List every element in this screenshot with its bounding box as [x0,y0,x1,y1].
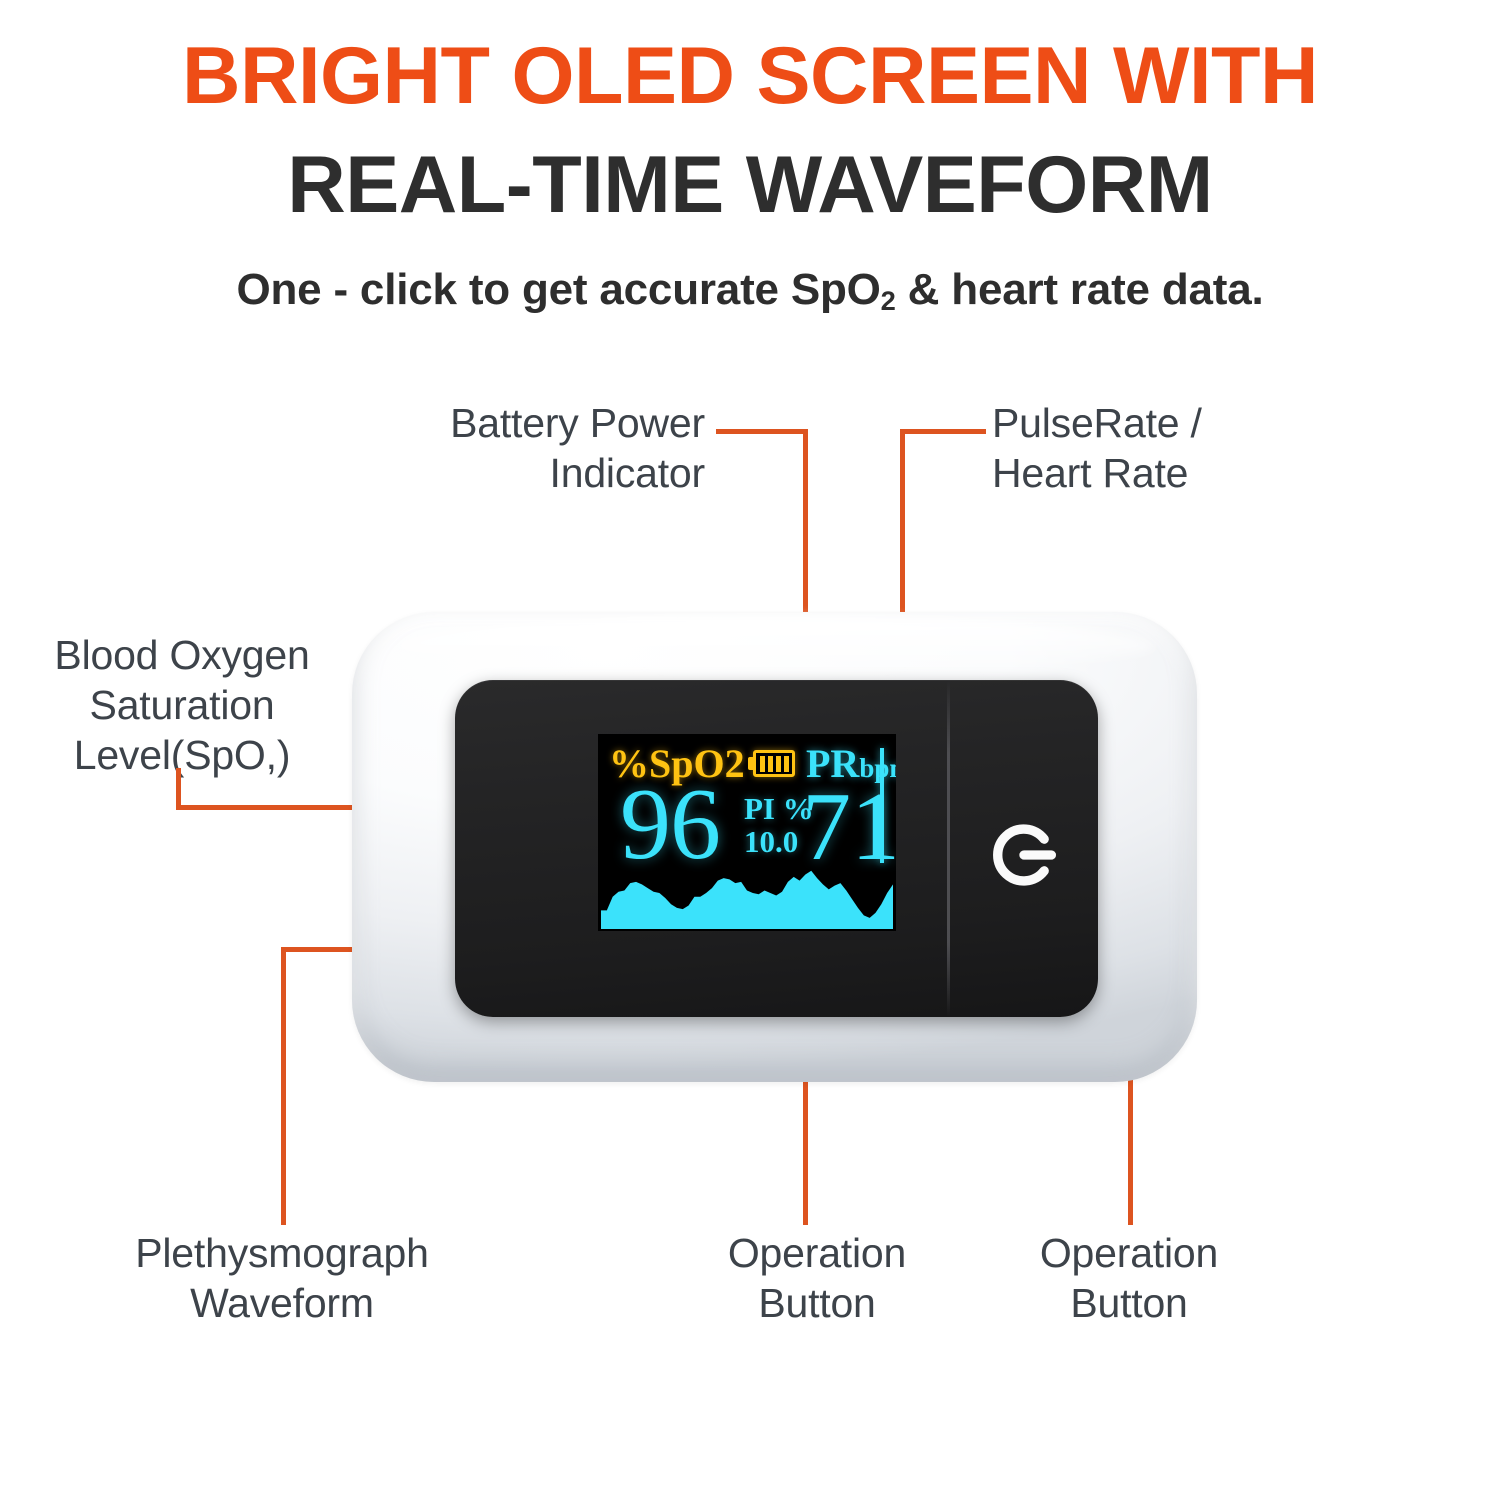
battery-bar [768,756,773,772]
subtitle-post: & heart rate data. [896,265,1264,314]
leader-battery-h [716,429,808,434]
subtitle-pre: One - click to get accurate SpO [236,265,880,314]
battery-icon [748,750,796,777]
device-faceplate: %SpO2 PRbpm 96 PI % 10.0 71 [455,680,1098,1017]
headline-block: BRIGHT OLED SCREEN WITH REAL-TIME WAVEFO… [0,34,1500,317]
callout-plethysmograph: Plethysmograph Waveform [72,1228,492,1328]
faceplate-seam [947,680,950,1017]
subtitle-subscript: 2 [881,285,896,316]
plethysmograph-waveform [601,867,893,929]
callout-operation-button-right: Operation Button [984,1228,1274,1328]
battery-bar [776,756,781,772]
callout-blood-oxygen: Blood Oxygen Saturation Level(SpO,) [22,630,342,780]
callout-battery-power-indicator: Battery Power Indicator [330,398,705,498]
oled-screen: %SpO2 PRbpm 96 PI % 10.0 71 [598,734,896,931]
page-subtitle: One - click to get accurate SpO2 & heart… [0,265,1500,317]
leader-pulserate-h [900,429,986,434]
callout-operation-button-left: Operation Button [672,1228,962,1328]
leader-spo2-v [176,768,181,810]
spo2-value: 96 [620,774,720,876]
pulse-oximeter-device: %SpO2 PRbpm 96 PI % 10.0 71 [352,612,1197,1082]
page-title-line2: REAL-TIME WAVEFORM [0,142,1500,229]
page-title-line1: BRIGHT OLED SCREEN WITH [0,34,1500,120]
power-button-icon[interactable] [988,819,1060,891]
callout-pulse-rate: PulseRate / Heart Rate [992,398,1412,498]
battery-bar [784,756,789,772]
battery-bar [760,756,765,772]
pulse-rate-value: 71 [802,778,896,876]
battery-case [753,750,795,777]
leader-waveform-v [281,947,286,1225]
